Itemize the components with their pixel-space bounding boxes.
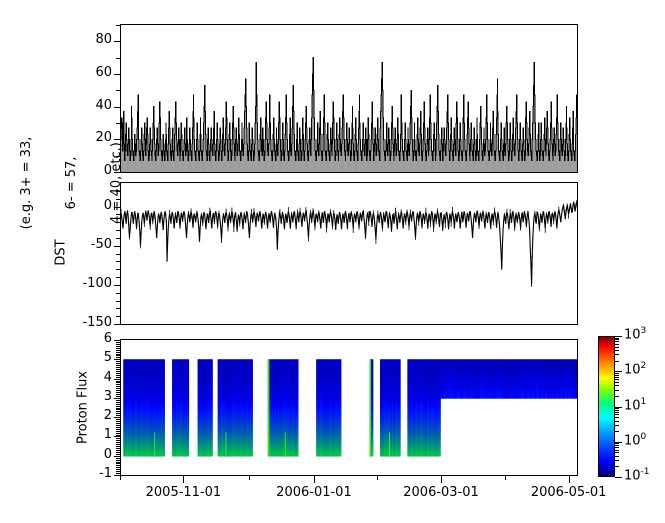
- colorbar-tick-label: 102: [624, 361, 646, 377]
- colorbar-tick-label: 100: [624, 432, 646, 448]
- panel-dst: [120, 182, 578, 325]
- colorbar: [598, 336, 615, 477]
- kp-trace: [121, 25, 577, 172]
- dst-axis-label: DST: [54, 223, 69, 283]
- dst-trace: [121, 183, 577, 324]
- panel-proton-flux: [120, 339, 578, 476]
- colorbar-tick-label: 103: [624, 326, 646, 342]
- colorbar-tick-label: 101: [624, 397, 646, 413]
- panel-kp: [120, 24, 578, 173]
- colorbar-tick-label: 10-1: [624, 467, 650, 483]
- figure-root: Kp (e.g. 3+ = 33, 6- = 57, 4 = 40, etc.)…: [0, 0, 665, 523]
- proton-flux-heatmap: [121, 340, 577, 475]
- kp-label-line2: (e.g. 3+ = 33,: [19, 118, 34, 248]
